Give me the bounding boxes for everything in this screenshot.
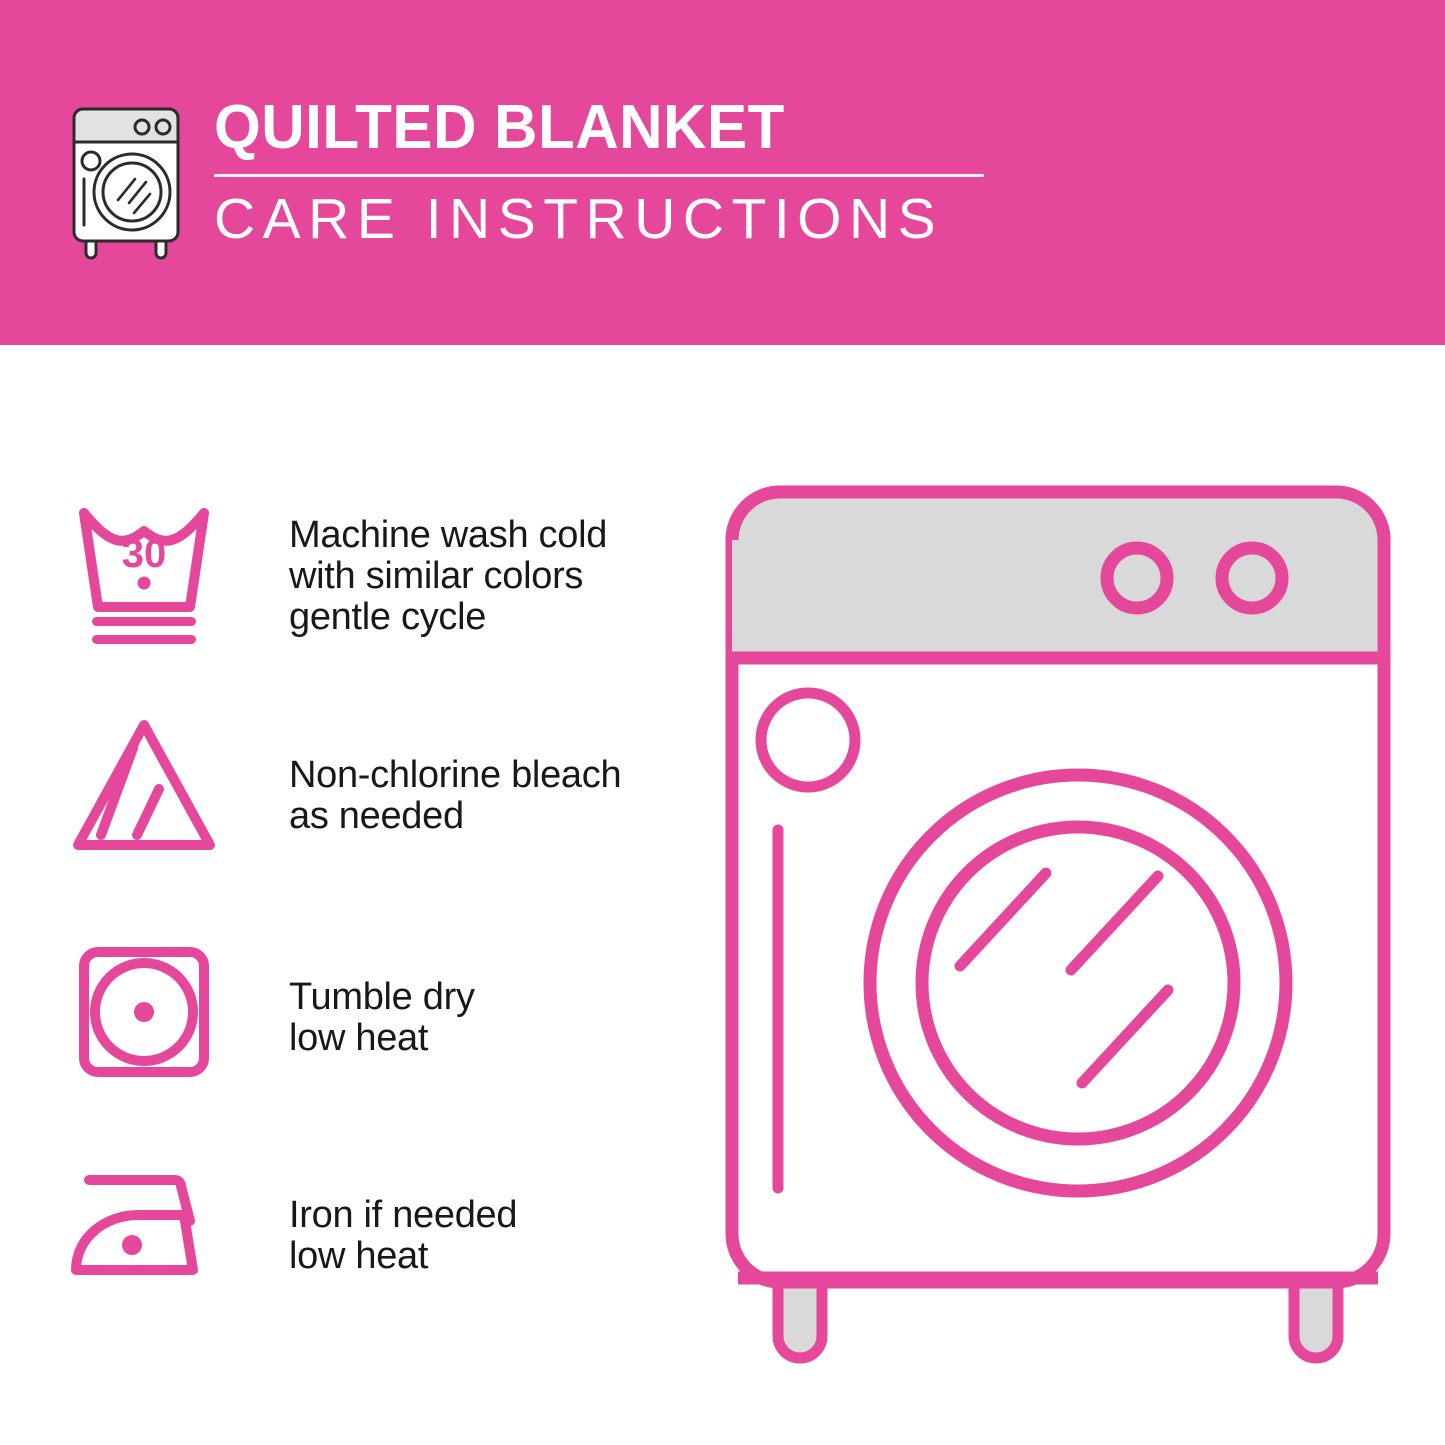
leg-right: [1294, 1278, 1338, 1358]
header-content: QUILTED BLANKET CARE INSTRUCTIONS: [60, 95, 984, 263]
non-chlorine-bleach-triangle-icon: [62, 711, 227, 871]
care-row-bleach: Non-chlorine bleach as needed: [62, 711, 702, 871]
header-titles: QUILTED BLANKET CARE INSTRUCTIONS: [214, 95, 984, 250]
wash-basin-30-gentle-icon: 30: [62, 495, 227, 655]
page-title: QUILTED BLANKET: [214, 95, 961, 161]
tumble-dry-low-icon: [62, 932, 227, 1092]
care-row-machine-wash: 30 Machine wash cold with similar colors…: [62, 495, 702, 655]
front-load-washing-machine-illustration: [718, 478, 1398, 1368]
care-row-tumble-dry: Tumble dry low heat: [62, 932, 702, 1092]
iron-low-heat-icon: [62, 1145, 227, 1305]
detergent-drawer-circle: [761, 693, 855, 787]
care-label: Machine wash cold with similar colors ge…: [289, 495, 607, 638]
leg-left: [778, 1278, 822, 1358]
care-label: Tumble dry low heat: [289, 932, 475, 1059]
knob-right[interactable]: [1222, 548, 1282, 608]
care-instructions-infographic: QUILTED BLANKET CARE INSTRUCTIONS 30 Mac…: [0, 0, 1445, 1445]
knob-left[interactable]: [1107, 548, 1167, 608]
page-subtitle: CARE INSTRUCTIONS: [214, 188, 984, 250]
header-banner: QUILTED BLANKET CARE INSTRUCTIONS: [0, 0, 1445, 345]
washer-graphic: [718, 478, 1398, 1368]
drum-inner-ring: [922, 827, 1234, 1139]
wash-temperature-value: 30: [122, 532, 167, 576]
care-label: Non-chlorine bleach as needed: [289, 711, 621, 837]
care-row-iron: Iron if needed low heat: [62, 1145, 702, 1305]
washing-machine-icon: [60, 103, 192, 263]
care-label: Iron if needed low heat: [289, 1145, 517, 1277]
title-divider: [214, 174, 984, 177]
